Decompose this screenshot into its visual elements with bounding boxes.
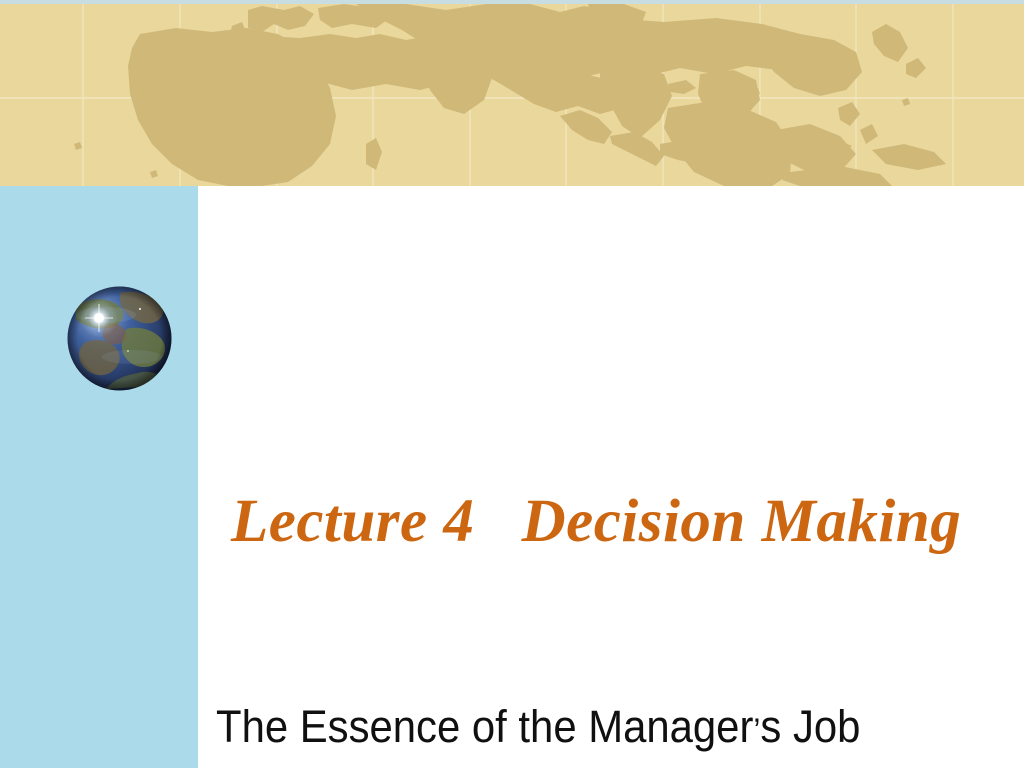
slide-content-area: Lecture 4 Decision Making The Essence of… <box>198 186 1024 768</box>
left-blue-band <box>0 186 198 768</box>
world-map-banner <box>0 4 1024 186</box>
slide-subtitle: The Essence of the Manager’s Job <box>216 698 960 760</box>
slide-subtitle-tail: s Job <box>760 701 860 752</box>
world-map-icon <box>0 4 1024 186</box>
globe-earth-icon <box>66 285 173 392</box>
presentation-slide: Lecture 4 Decision Making The Essence of… <box>0 0 1024 768</box>
globe-earth-graphic <box>66 285 173 392</box>
slide-subtitle-main: The Essence of the Manager <box>216 701 753 752</box>
page-title: Lecture 4 Decision Making <box>231 486 1011 558</box>
